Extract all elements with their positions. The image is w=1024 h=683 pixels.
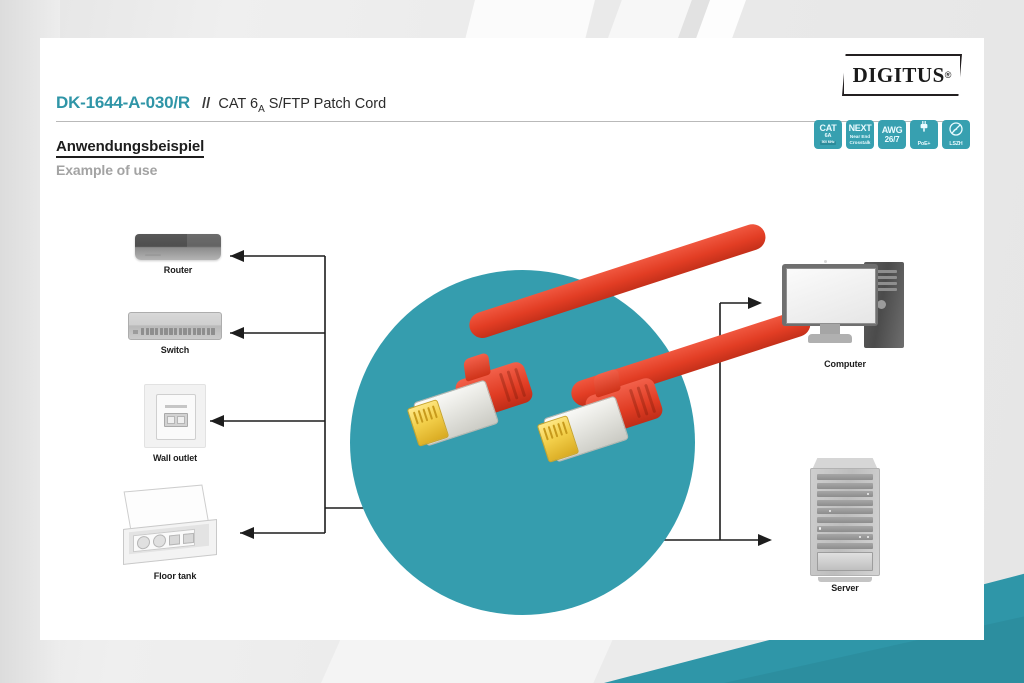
logo-text: DIGITUS <box>853 63 945 88</box>
device-wall-outlet: Wall outlet <box>115 384 235 463</box>
section-title-en: Example of use <box>56 162 204 178</box>
section-titles: Anwendungsbeispiel Example of use <box>56 138 204 178</box>
floor-tank-label: Floor tank <box>110 571 240 581</box>
digitus-logo: DIGITUS® <box>842 54 962 96</box>
poe-badge-label: PoE+ <box>918 142 931 147</box>
awg-badge-main: AWG <box>882 126 903 135</box>
computer-icon <box>778 258 912 354</box>
product-header-row: DK-1644-A-030/R // CAT 6A S/FTP Patch Co… <box>56 93 968 121</box>
device-computer: Computer <box>765 258 925 369</box>
next-badge: NEXT Near End Crosstalk <box>846 120 874 149</box>
content-card: DIGITUS® DK-1644-A-030/R // CAT 6A S/FTP… <box>40 38 984 640</box>
router-label: Router <box>118 265 238 275</box>
certification-badges: CAT 6A 500 MHz NEXT Near End Crosstalk A… <box>814 120 970 149</box>
next-badge-main: NEXT <box>849 124 872 133</box>
wall-outlet-icon <box>144 384 206 448</box>
lszh-badge: LSZH <box>942 120 970 149</box>
product-header: DK-1644-A-030/R // CAT 6A S/FTP Patch Co… <box>56 93 968 122</box>
switch-label: Switch <box>115 345 235 355</box>
device-router: Router <box>118 234 238 275</box>
product-description-sub: A <box>258 104 265 115</box>
logo-inner: DIGITUS® <box>846 58 958 92</box>
computer-label: Computer <box>765 359 925 369</box>
usage-diagram: Router Switch Wall outlet <box>40 188 984 640</box>
next-badge-sub: Near End Crosstalk <box>850 134 871 145</box>
device-floor-tank: Floor tank <box>110 488 240 581</box>
product-description-rest: S/FTP Patch Cord <box>265 96 386 112</box>
product-description: CAT 6A S/FTP Patch Cord <box>218 96 386 115</box>
logo-frame: DIGITUS® <box>842 54 962 96</box>
awg-badge-sub: 26/7 <box>885 136 900 144</box>
title-wrap: Anwendungsbeispiel <box>56 138 204 158</box>
poe-badge: PoE+ <box>910 120 938 149</box>
switch-icon <box>128 312 222 340</box>
product-sku: DK-1644-A-030/R <box>56 93 190 113</box>
cat6a-badge-main: CAT <box>820 124 837 133</box>
floor-tank-icon <box>123 488 227 566</box>
router-icon <box>135 234 221 260</box>
cat6a-badge: CAT 6A 500 MHz <box>814 120 842 149</box>
section-title-de: Anwendungsbeispiel <box>56 138 204 158</box>
registered-mark: ® <box>945 70 952 80</box>
lszh-badge-label: LSZH <box>949 142 962 147</box>
server-label: Server <box>770 583 920 593</box>
cat6a-badge-sub: 6A <box>825 134 832 140</box>
product-description-main: CAT 6 <box>218 96 258 112</box>
header-separator: // <box>202 95 210 112</box>
wall-outlet-label: Wall outlet <box>115 453 235 463</box>
device-switch: Switch <box>115 312 235 355</box>
awg-badge: AWG 26/7 <box>878 120 906 149</box>
device-server: Server <box>770 458 920 593</box>
cat6a-badge-tiny: 500 MHz <box>820 141 837 145</box>
no-smoke-icon <box>949 122 963 140</box>
poe-plug-icon <box>918 121 930 140</box>
server-icon <box>808 458 882 578</box>
